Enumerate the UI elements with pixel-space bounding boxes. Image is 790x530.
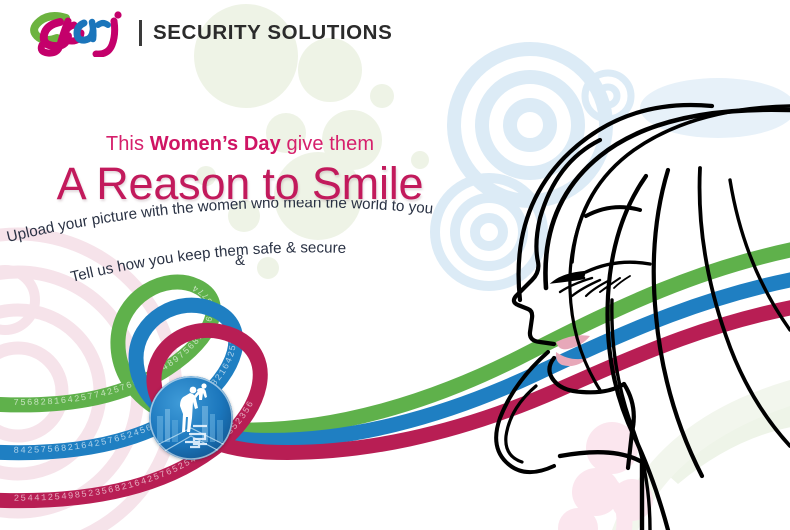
tagline-line-3: Tell us how you keep them safe & secure bbox=[69, 239, 346, 286]
godrej-wordmark-icon bbox=[26, 9, 130, 57]
logo-tagline: SECURITY SOLUTIONS bbox=[153, 21, 392, 45]
poster-canvas: 7568281642577425765245648975682816425774… bbox=[0, 0, 790, 530]
kicker-bold: Women’s Day bbox=[150, 133, 281, 155]
kicker-pre: This bbox=[106, 133, 150, 155]
brand-logo[interactable]: SECURITY SOLUTIONS bbox=[26, 8, 366, 58]
kicker-line: This Women’s Day give them bbox=[0, 133, 480, 156]
eyebrow bbox=[586, 207, 640, 216]
hair-and-face-strokes bbox=[496, 105, 790, 530]
tagline-line-1: Upload your picture with the women who m… bbox=[5, 200, 434, 246]
tagline-block: Upload your picture with the women who m… bbox=[0, 200, 480, 295]
kicker-post: give them bbox=[281, 133, 374, 155]
eye-with-lashes bbox=[554, 262, 650, 296]
logo-divider bbox=[139, 20, 142, 46]
